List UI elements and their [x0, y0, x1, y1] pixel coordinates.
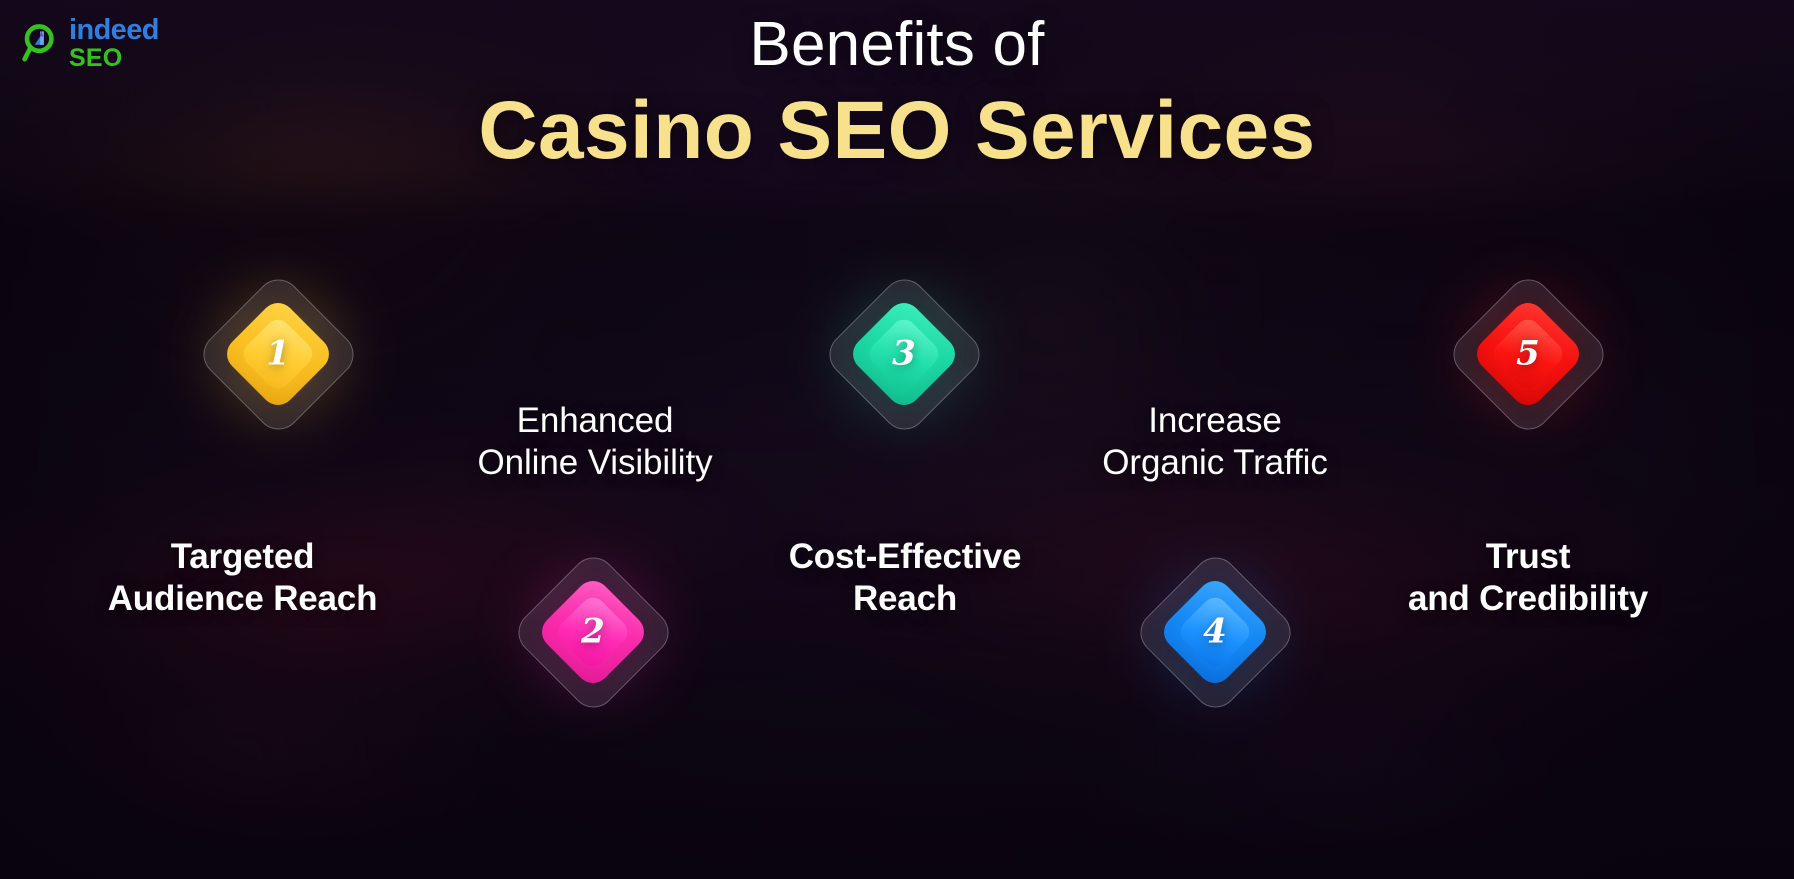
title-line-1: Benefits of — [0, 10, 1794, 79]
benefit-badge-2[interactable]: 2 — [509, 548, 677, 716]
benefit-label-1: Targeted Audience Reach — [80, 536, 405, 620]
benefit-label-5: Trust and Credibility — [1363, 536, 1693, 620]
brand-logo[interactable]: indeed SEO — [22, 16, 159, 71]
logo-text-indeed: indeed — [69, 16, 159, 45]
benefit-badge-5[interactable]: 5 — [1444, 270, 1612, 438]
benefit-label-4: Increase Organic Traffic — [1050, 400, 1380, 484]
badge-number-2: 2 — [581, 614, 605, 648]
magnifier-arrow-icon — [22, 23, 62, 65]
benefit-label-2: Enhanced Online Visibility — [430, 400, 760, 484]
benefit-badge-3[interactable]: 3 — [820, 270, 988, 438]
benefit-badge-4[interactable]: 4 — [1131, 548, 1299, 716]
benefit-badge-1[interactable]: 1 — [194, 270, 362, 438]
badge-number-1: 1 — [266, 336, 290, 370]
badge-number-3: 3 — [892, 336, 916, 370]
benefit-label-3: Cost-Effective Reach — [740, 536, 1070, 620]
badge-number-4: 4 — [1203, 614, 1227, 648]
infographic-canvas: indeed SEO Benefits of Casino SEO Servic… — [0, 0, 1794, 879]
badge-number-5: 5 — [1516, 336, 1540, 370]
logo-wordmark: indeed SEO — [69, 16, 159, 71]
logo-text-seo: SEO — [69, 46, 159, 71]
page-title: Benefits of Casino SEO Services — [0, 10, 1794, 179]
title-line-2: Casino SEO Services — [0, 83, 1794, 178]
